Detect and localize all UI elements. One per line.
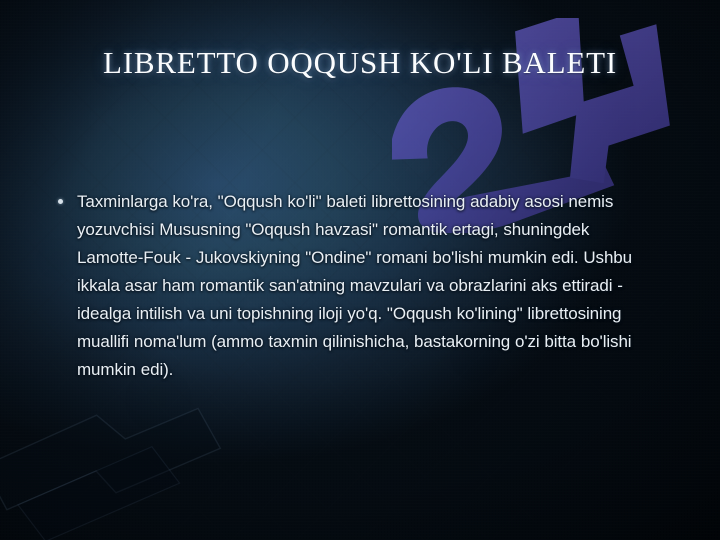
slide-body: Taxminlarga ko'ra, "Oqqush ko'li" baleti… [58, 188, 654, 384]
slide-title: LIBRETTO OQQUSH KO'LI BALETI [46, 46, 674, 81]
bullet-dot-icon [58, 199, 63, 204]
bullet-item-text: Taxminlarga ko'ra, "Oqqush ko'li" baleti… [77, 188, 654, 384]
presentation-slide: LIBRETTO OQQUSH KO'LI BALETI Taxminlarga… [0, 0, 720, 540]
bullet-list-item: Taxminlarga ko'ra, "Oqqush ko'li" baleti… [58, 188, 654, 384]
